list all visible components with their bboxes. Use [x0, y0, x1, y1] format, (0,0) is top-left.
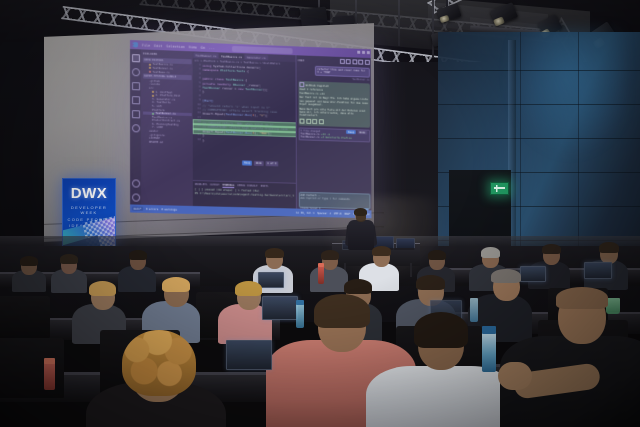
hair-curly	[122, 330, 196, 396]
file-changes-actions[interactable]: Keep Undo	[346, 131, 367, 135]
hair	[235, 281, 262, 296]
chat-assistant-message: Github Copilot Used 1 reference TestBasi…	[298, 81, 370, 128]
audience-laptop	[520, 266, 546, 282]
vscode-logo-icon	[132, 42, 138, 48]
hanging-rod	[398, 0, 400, 46]
changed-file-name: TestRunner.cs	[301, 135, 320, 139]
tree-item-file[interactable]: README.md	[143, 140, 192, 145]
status-branch[interactable]: main*	[132, 207, 143, 211]
active-dot-icon	[152, 112, 154, 114]
audience-laptop	[584, 262, 612, 279]
folder-label: src	[149, 87, 154, 90]
chat-header: CHAT	[298, 57, 369, 66]
retry-icon[interactable]	[318, 119, 323, 124]
modified-dot-icon	[152, 94, 154, 96]
split-icon[interactable]	[352, 59, 357, 64]
explorer-sidebar[interactable]: EXPLORER OPEN EDITORS TestBasics.cs Test…	[141, 49, 193, 206]
chat-keep-button[interactable]: Keep	[346, 130, 356, 135]
minimize-icon[interactable]	[357, 51, 360, 54]
changed-file-stat: +3 Generierte Prefixe	[321, 136, 352, 140]
hair	[414, 312, 468, 348]
hanging-rod	[432, 0, 434, 58]
modified-dot-icon	[152, 91, 154, 93]
hair	[129, 250, 147, 260]
explorer-icon[interactable]	[132, 54, 140, 62]
chat-header-actions[interactable]	[340, 59, 370, 65]
water-bottle	[44, 362, 55, 390]
hair	[542, 244, 561, 254]
banner-logo: DWX	[63, 185, 115, 202]
code-editor[interactable]: TestRunner.cs TestBasics.cs Generator.cs…	[193, 51, 296, 182]
close-icon[interactable]	[367, 51, 370, 54]
thumbs-down-icon[interactable]	[306, 119, 311, 124]
hair	[265, 248, 284, 258]
inline-suggestion-toolbar[interactable]: Keep Undo 1 of 3	[242, 161, 278, 167]
wall-panel-line	[438, 104, 640, 105]
hair	[314, 294, 370, 328]
hair	[344, 279, 372, 294]
hair	[428, 250, 446, 260]
assistant-paragraph: Der Test ist im Begriffe. Ich habe eigen…	[299, 96, 368, 108]
tab-debug-console[interactable]: DEBUG CONSOLE	[238, 184, 258, 188]
audience-laptop	[262, 296, 298, 320]
tab-output[interactable]: OUTPUT	[210, 183, 219, 186]
speaker-hair	[354, 208, 367, 216]
modified-dot-icon	[149, 67, 151, 69]
tab-problems[interactable]: PROBLEMS	[195, 183, 207, 186]
hair	[491, 269, 521, 283]
hair	[20, 256, 38, 266]
untracked-dot-icon	[149, 71, 151, 73]
assistant-paragraph: Beim Wert pro alle Fails mit der Dateien…	[300, 107, 369, 119]
audience-laptop	[258, 272, 284, 288]
explorer-header: EXPLORER	[143, 51, 192, 57]
hair	[481, 247, 500, 258]
settings-gear-icon[interactable]	[132, 193, 140, 201]
hair	[556, 287, 608, 309]
laptop-base	[394, 248, 415, 250]
hair	[60, 254, 78, 264]
menu-view[interactable]: View	[189, 45, 197, 49]
file-label: README.md	[149, 141, 163, 144]
hair	[416, 275, 445, 290]
chat-file-changes[interactable]: 1 file changed Keep Undo TestBasics.cs +…	[298, 127, 370, 142]
projected-ide-screen: File Edit Selection View Go ...	[130, 40, 371, 218]
chat-icon[interactable]	[132, 124, 140, 132]
water-bottle	[482, 332, 496, 372]
drink-cup	[606, 298, 620, 314]
keep-button[interactable]: Keep	[242, 161, 252, 166]
wall-panel-line	[438, 70, 640, 71]
menu-edit[interactable]: Edit	[154, 43, 162, 47]
account-icon[interactable]	[132, 179, 140, 187]
menu-go[interactable]: Go	[201, 45, 205, 49]
editor-tab[interactable]: Generator.cs	[245, 54, 268, 60]
hair	[599, 242, 619, 253]
more-icon[interactable]	[358, 60, 363, 65]
status-errors[interactable]: 0 errors	[146, 207, 158, 210]
hands-clasped	[498, 362, 532, 390]
banner-subtitle-1: DEVELOPER WEEK	[63, 205, 115, 215]
conference-photo: File Edit Selection View Go ...	[0, 0, 640, 427]
menu-more[interactable]: ...	[209, 46, 215, 50]
bottle-cap	[44, 358, 55, 364]
shoulders	[366, 366, 516, 427]
debug-icon[interactable]	[132, 96, 140, 104]
vscode-window: File Edit Selection View Go ...	[130, 40, 371, 218]
audience-laptop	[226, 340, 272, 370]
bottle-cap	[482, 326, 496, 334]
assistant-reactions[interactable]	[300, 119, 369, 126]
speaker-torso	[348, 220, 374, 250]
wall-dark-strip	[0, 42, 44, 262]
chat-user-message: refactor this and cover case for 3 + "TD…	[315, 65, 370, 78]
suggestion-counter: 1 of 3	[265, 161, 278, 166]
source-control-icon[interactable]	[132, 82, 140, 90]
table-leg	[410, 263, 412, 277]
water-bottle	[318, 266, 324, 284]
wall-panel-line	[438, 138, 640, 139]
chat-title: CHAT	[298, 58, 304, 62]
status-warnings[interactable]: 0 warnings	[161, 208, 177, 211]
hair	[321, 250, 339, 260]
bottle-cap	[296, 300, 304, 305]
thumbs-up-icon[interactable]	[300, 119, 305, 124]
menu-file[interactable]: File	[142, 43, 150, 47]
exit-running-man-icon	[494, 185, 505, 192]
speaker-beard	[356, 215, 366, 222]
water-bottle	[470, 298, 478, 322]
exit-sign	[490, 182, 509, 195]
history-icon[interactable]	[346, 59, 351, 64]
maximize-icon[interactable]	[362, 51, 365, 54]
hair	[372, 246, 391, 256]
search-icon[interactable]	[132, 68, 140, 76]
chair-back	[0, 296, 50, 338]
menu-selection[interactable]: Selection	[166, 44, 184, 49]
bottle-cap	[318, 263, 324, 267]
hair	[162, 277, 190, 292]
hair	[89, 281, 116, 296]
chat-undo-button[interactable]: Undo	[357, 130, 367, 135]
undo-button[interactable]: Undo	[254, 161, 264, 166]
window-controls[interactable]	[357, 51, 369, 54]
new-chat-icon[interactable]	[340, 59, 345, 64]
status-cursor-position[interactable]: Ln 16, Col 1	[296, 211, 314, 214]
water-bottle	[296, 304, 304, 328]
activity-bar[interactable]	[130, 49, 141, 205]
copilot-icon	[299, 82, 304, 87]
terminal-panel[interactable]: PROBLEMS OUTPUT TERMINAL DEBUG CONSOLE P…	[193, 180, 296, 209]
extensions-icon[interactable]	[132, 110, 140, 118]
line-number: 18	[194, 138, 201, 143]
close-icon[interactable]	[365, 60, 370, 65]
assistant-title-label: Github Copilot	[306, 83, 329, 88]
copilot-chat-panel[interactable]: CHAT refactor this and cover case for 3 …	[295, 55, 371, 210]
copy-icon[interactable]	[312, 119, 317, 124]
modified-dot-icon	[149, 64, 151, 66]
tab-ports[interactable]: PORTS	[260, 185, 268, 188]
